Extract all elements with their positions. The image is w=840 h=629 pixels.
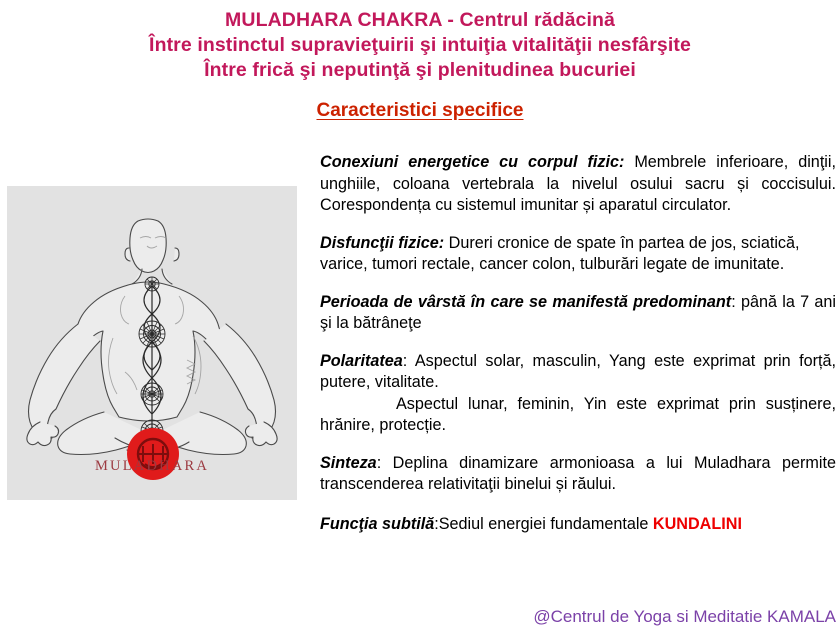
paragraph-perioada-lead: Perioada de vârstă în care se manifestă … bbox=[320, 293, 731, 311]
kundalini-highlight: KUNDALINI bbox=[653, 515, 742, 533]
paragraph-functia-subtila: Funcţia subtilă:Sediul energiei fundamen… bbox=[320, 514, 836, 536]
paragraph-conexiuni-lead: Conexiuni energetice cu corpul fizic: bbox=[320, 153, 624, 171]
title-line-1: MULADHARA CHAKRA - Centrul rădăcină bbox=[0, 8, 840, 33]
title-line-2: Între instinctul supravieţuirii şi intui… bbox=[0, 33, 840, 58]
meditating-figure-icon bbox=[7, 186, 297, 500]
title-line-3: Între frică şi neputinţă şi plenitudinea… bbox=[0, 58, 840, 83]
paragraph-conexiuni: Conexiuni energetice cu corpul fizic: Me… bbox=[320, 152, 836, 217]
paragraph-polaritatea-second-line: Aspectul lunar, feminin, Yin este exprim… bbox=[320, 394, 836, 437]
footer-credit: @Centrul de Yoga si Meditatie KAMALA bbox=[533, 607, 836, 627]
paragraph-sinteza: Sinteza: Deplina dinamizare armonioasa a… bbox=[320, 453, 836, 496]
paragraph-functia-text: :Sediul energiei fundamentale bbox=[434, 515, 653, 533]
paragraph-sinteza-lead: Sinteza bbox=[320, 454, 377, 472]
paragraph-functia-lead: Funcţia subtilă bbox=[320, 515, 434, 533]
muladhara-illustration-panel bbox=[7, 186, 297, 500]
paragraph-perioada: Perioada de vârstă în care se manifestă … bbox=[320, 292, 836, 335]
paragraph-polaritatea: Polaritatea: Aspectul solar, masculin, Y… bbox=[320, 351, 836, 437]
slide-title: MULADHARA CHAKRA - Centrul rădăcină Într… bbox=[0, 8, 840, 83]
paragraph-disfunctii-lead: Disfuncţii fizice: bbox=[320, 234, 444, 252]
section-heading: Caracteristici specifice bbox=[0, 100, 840, 122]
root-chakra-marker bbox=[127, 428, 179, 480]
paragraph-disfunctii: Disfuncţii fizice: Dureri cronice de spa… bbox=[320, 233, 836, 276]
paragraph-sinteza-text: : Deplina dinamizare armonioasa a lui Mu… bbox=[320, 454, 836, 494]
paragraph-polaritatea-lead: Polaritatea bbox=[320, 352, 403, 370]
section-heading-label: Caracteristici specifice bbox=[316, 100, 523, 121]
slide-canvas: MULADHARA CHAKRA - Centrul rădăcină Într… bbox=[0, 0, 840, 629]
content-body: Conexiuni energetice cu corpul fizic: Me… bbox=[320, 152, 836, 535]
